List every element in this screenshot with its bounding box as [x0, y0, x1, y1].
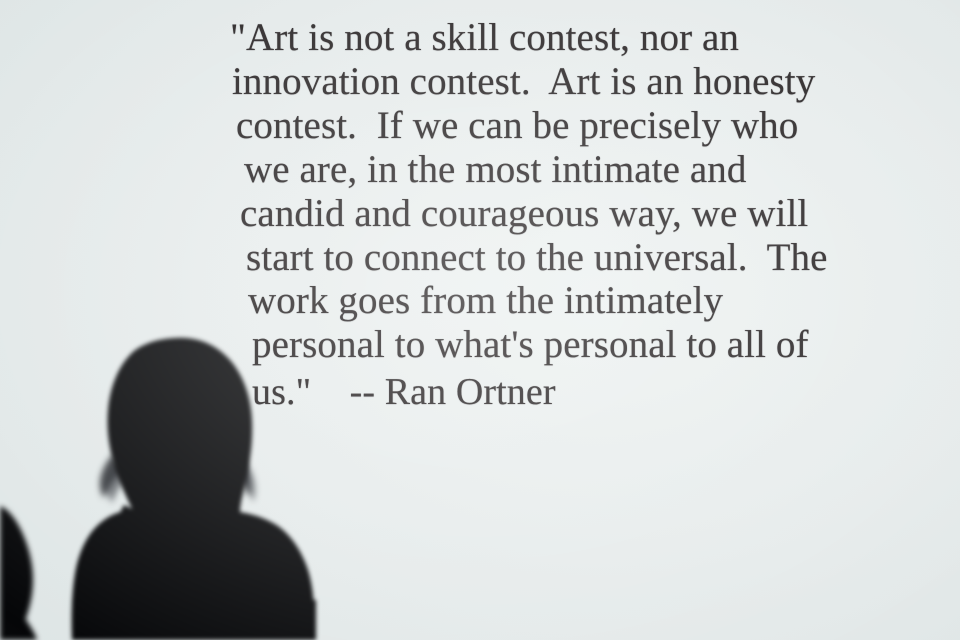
projected-slide-photo: "Art is not a skill contest, nor an inno… [0, 0, 960, 640]
quote-line: contest. If we can be precisely who [236, 104, 798, 148]
quote-line: personal to what's personal to all of [252, 323, 809, 367]
quote-line: work goes from the intimately [248, 279, 723, 323]
quote-line: start to connect to the universal. The [246, 236, 828, 280]
quote-line: we are, in the most intimate and [244, 148, 746, 192]
quote-attribution-line: us." -- Ran Ortner [252, 370, 556, 414]
quote-text-block: "Art is not a skill contest, nor an inno… [0, 0, 960, 640]
quote-line: candid and courageous way, we will [240, 192, 808, 236]
quote-line: "Art is not a skill contest, nor an [230, 16, 739, 60]
quote-line: innovation contest. Art is an honesty [232, 60, 815, 104]
